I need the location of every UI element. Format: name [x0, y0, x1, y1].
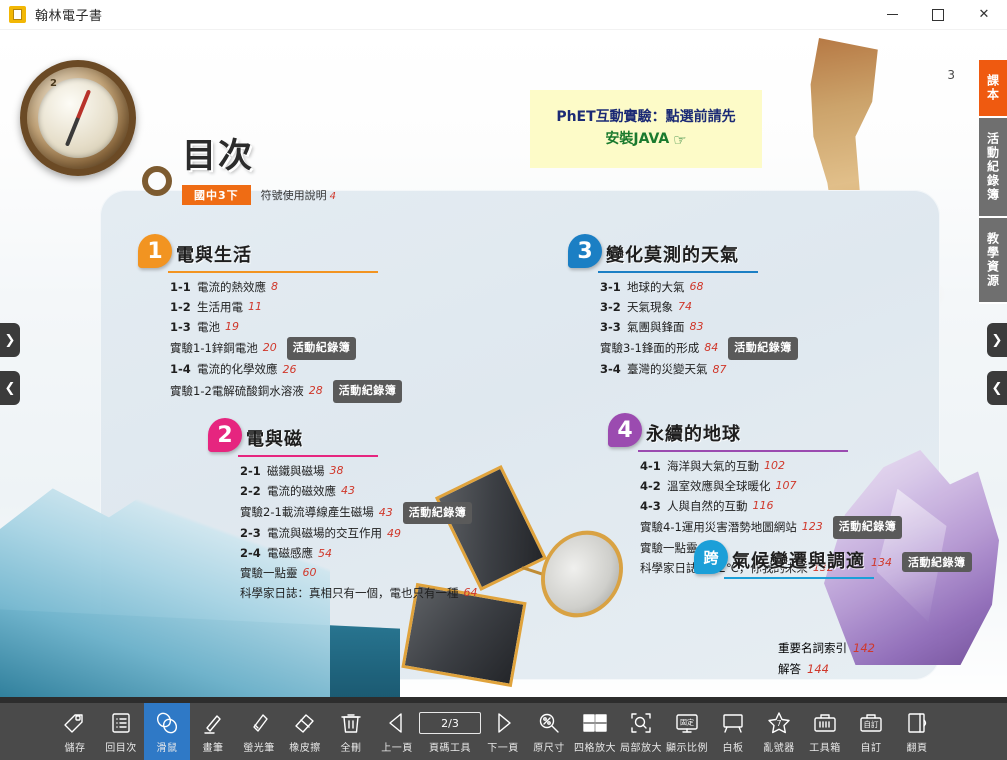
side-tab-教學資源[interactable]: 教學資源: [979, 218, 1007, 304]
toc-entry-page: 60: [303, 564, 317, 583]
sticky-note[interactable]: PhET互動實驗：點選前請先 安裝JAVA ☞: [530, 90, 762, 168]
chapter-title: 永續的地球: [646, 420, 741, 447]
activity-note-badge[interactable]: 活動紀錄簿: [403, 502, 473, 525]
toc-subheader: 國中3下 符號使用說明4: [182, 185, 336, 205]
toc-entry-number: 4-3: [640, 497, 662, 517]
cross-topic-note-badge[interactable]: 活動紀錄簿: [902, 552, 972, 572]
window-controls: ✕: [869, 0, 1007, 30]
ebook-app: 翰林電子書 ✕ 2 3: [0, 0, 1007, 760]
book-icon: [9, 6, 26, 23]
toolbar-button-whiteboard[interactable]: 白板: [710, 703, 756, 760]
chapter-entries: 3-1地球的大氣683-2天氣現象743-3氣團與鋒面83實驗3-1鋒面的形成8…: [600, 278, 798, 380]
toc-entry-number: 4-1: [640, 457, 662, 477]
toc-entry-text: 科學家日誌：真相只有一個，電也只有一種: [240, 584, 459, 604]
toc-entry-page: 83: [690, 318, 704, 337]
toolbar-button-next-page[interactable]: 下一頁: [480, 703, 526, 760]
toc-entry-page: 74: [678, 298, 692, 317]
toc-entry-page: 107: [776, 477, 797, 496]
toolbar-button-pen[interactable]: 畫筆: [190, 703, 236, 760]
side-tab-課本[interactable]: 課本: [979, 60, 1007, 118]
compass-photo: 2: [6, 48, 171, 208]
chapter-rule: [638, 450, 848, 452]
activity-note-badge[interactable]: 活動紀錄簿: [333, 380, 403, 403]
tail-entry-page: 142: [853, 638, 875, 659]
toc-entry[interactable]: 實驗3-1鋒面的形成84活動紀錄簿: [600, 337, 798, 360]
region-zoom-icon: [628, 708, 654, 738]
page-indicator[interactable]: 2/3: [419, 712, 481, 734]
legend-page: 4: [330, 191, 336, 202]
minimize-icon[interactable]: [869, 0, 915, 30]
toolbar-button-label: 頁碼工具: [429, 739, 471, 754]
pointing-hand-icon: ☞: [673, 130, 686, 150]
toc-entry-text: 地球的大氣: [627, 278, 685, 298]
toc-entry-number: 3-2: [600, 298, 622, 318]
chapter-title: 變化莫測的天氣: [606, 241, 739, 268]
sticky-note-line1: PhET互動實驗：點選前請先: [556, 108, 735, 127]
toc-entry-page: 19: [225, 318, 239, 337]
toolbar-button-trash[interactable]: 全刪: [328, 703, 374, 760]
toc-entry[interactable]: 2-2電流的磁效應43: [240, 482, 478, 502]
chapter-header-3[interactable]: 3變化莫測的天氣: [568, 234, 798, 268]
toc-entry-text: 實驗2-1載流導線產生磁場: [240, 503, 374, 523]
activity-note-badge[interactable]: 活動紀錄簿: [287, 337, 357, 360]
toc-entry-text: 實驗一點靈: [640, 539, 698, 559]
maximize-icon[interactable]: [915, 0, 961, 30]
toc-entry[interactable]: 4-3人與自然的互動116: [640, 497, 902, 517]
trash-icon: [338, 708, 364, 738]
side-tab-活動紀錄簿[interactable]: 活動紀錄簿: [979, 118, 1007, 218]
whiteboard-icon: [720, 708, 746, 738]
toolbar-button-custom[interactable]: 自訂自訂: [848, 703, 894, 760]
toc-entry-page: 54: [318, 545, 332, 564]
toolbar-button-random-number[interactable]: 7亂號器: [756, 703, 802, 760]
toolbar-button-label: 上一頁: [381, 739, 413, 754]
toc-entry-text: 電流的化學效應: [197, 360, 278, 380]
tail-entry-text: 解答: [778, 659, 801, 680]
toolbox-icon: [812, 708, 838, 738]
edge-prev-left-arrow[interactable]: ❮: [0, 371, 20, 405]
toc-entry[interactable]: 實驗2-1載流導線產生磁場43活動紀錄簿: [240, 502, 478, 525]
toc-entry[interactable]: 實驗一點靈60: [240, 564, 478, 584]
toolbar-button-label: 四格放大: [574, 739, 616, 754]
chapter-number-badge: 4: [608, 413, 642, 447]
toc-entry-text: 溫室效應與全球暖化: [667, 477, 771, 497]
sticky-note-line2: 安裝JAVA ☞: [605, 130, 686, 150]
toc-entry-text: 氣團與鋒面: [627, 318, 685, 338]
activity-note-badge[interactable]: 活動紀錄簿: [728, 337, 798, 360]
toc-entry-number: 2-2: [240, 482, 262, 502]
actual-size-icon: [536, 708, 562, 738]
svg-text:7: 7: [776, 719, 781, 728]
toolbar-button-label: 原尺寸: [533, 739, 565, 754]
toolbar-button-prev-page[interactable]: 上一頁: [374, 703, 420, 760]
quad-zoom-icon: [582, 708, 608, 738]
toc-entry-number: 1-4: [170, 360, 192, 380]
tail-entry[interactable]: 解答144: [778, 659, 875, 680]
page-number-icon: 2/3: [419, 708, 481, 738]
legend-link[interactable]: 符號使用說明4: [261, 187, 336, 203]
toc-entry[interactable]: 科學家日誌：真相只有一個，電也只有一種64: [240, 584, 478, 604]
chapter-number-badge: 2: [208, 418, 242, 452]
toolbar-button-label: 橡皮擦: [289, 739, 321, 754]
toc-header: 目次 國中3下 符號使用說明4: [182, 128, 336, 205]
toc-entry[interactable]: 1-3電池19: [170, 318, 402, 338]
toolbar-button-label: 儲存: [65, 739, 86, 754]
toc-entry-number: 1-3: [170, 318, 192, 338]
toc-entry-page: 102: [764, 457, 785, 476]
toc-entry-page: 28: [309, 382, 323, 401]
toolbar-button-region-zoom[interactable]: 局部放大: [618, 703, 664, 760]
toolbar-button-label: 翻頁: [907, 739, 928, 754]
custom-icon: 自訂: [858, 708, 884, 738]
toc-entry[interactable]: 4-2溫室效應與全球暖化107: [640, 477, 902, 497]
flip-page-icon: [904, 708, 930, 738]
toolbar-button-flip-page[interactable]: 翻頁: [894, 703, 940, 760]
toc-entry-page: 84: [704, 339, 718, 358]
save-icon: [62, 708, 88, 738]
toc-entry[interactable]: 1-4電流的化學效應26: [170, 360, 402, 380]
toc-entry-page: 43: [379, 504, 393, 523]
toc-entry-text: 臺灣的災變天氣: [627, 360, 708, 380]
toc-entry-number: 3-3: [600, 318, 622, 338]
contents-icon: [108, 708, 134, 738]
toc-entry-number: 2-3: [240, 524, 262, 544]
toc-entry-text: 磁鐵與磁場: [267, 462, 325, 482]
toc-entry[interactable]: 實驗4-1運用災害潛勢地圖網站123活動紀錄簿: [640, 516, 902, 539]
toc-entry-page: 49: [387, 525, 401, 544]
toc-entry[interactable]: 3-1地球的大氣68: [600, 278, 798, 298]
toolbar-button-label: 白板: [723, 739, 744, 754]
page-title: 目次: [182, 128, 336, 177]
toc-entry-text: 電流與磁場的交互作用: [267, 524, 382, 544]
chapter-section-2: 2電與磁2-1磁鐵與磁場382-2電流的磁效應43實驗2-1載流導線產生磁場43…: [208, 418, 478, 604]
chapter-rule: [598, 271, 758, 273]
chapter-header-1[interactable]: 1電與生活: [138, 234, 402, 268]
toc-entry[interactable]: 1-1電流的熱效應8: [170, 278, 402, 298]
toc-entry-page: 8: [271, 278, 278, 297]
toc-entry[interactable]: 實驗1-1鋅銅電池20活動紀錄簿: [170, 337, 402, 360]
chapter-title: 電與生活: [176, 241, 252, 268]
mouse-icon: [154, 708, 180, 738]
chapter-header-2[interactable]: 2電與磁: [208, 418, 478, 452]
chapter-header-4[interactable]: 4永續的地球: [608, 413, 902, 447]
toolbar-left-spacer: [0, 703, 52, 760]
chapter-number-badge: 1: [138, 234, 172, 268]
toolbar-button-actual-size[interactable]: 原尺寸: [526, 703, 572, 760]
toolbar-button-quad-zoom[interactable]: 四格放大: [572, 703, 618, 760]
toolbar-button-highlighter[interactable]: 螢光筆: [236, 703, 282, 760]
compass-marking: 2: [50, 78, 57, 89]
toc-entry-text: 電池: [197, 318, 220, 338]
legend-label: 符號使用說明: [261, 189, 327, 202]
toc-entry[interactable]: 2-4電磁感應54: [240, 544, 478, 564]
toolbar-button-save[interactable]: 儲存: [52, 703, 98, 760]
toc-entry[interactable]: 3-3氣團與鋒面83: [600, 318, 798, 338]
toc-entry-text: 實驗一點靈: [240, 564, 298, 584]
chapter-entries: 2-1磁鐵與磁場382-2電流的磁效應43實驗2-1載流導線產生磁場43活動紀錄…: [240, 462, 478, 604]
toolbar-button-label: 下一頁: [487, 739, 519, 754]
tail-entry-page: 144: [807, 659, 829, 680]
toc-entry-text: 生活用電: [197, 298, 243, 318]
toc-entry[interactable]: 3-2天氣現象74: [600, 298, 798, 318]
toc-entry[interactable]: 2-3電流與磁場的交互作用49: [240, 524, 478, 544]
tail-entries: 重要名詞索引142解答144: [778, 638, 875, 679]
toolbar-button-label: 回目次: [105, 739, 137, 754]
next-page-icon: [490, 708, 516, 738]
toolbar-button-label: 自訂: [861, 739, 882, 754]
toc-entry[interactable]: 3-4臺灣的災變天氣87: [600, 360, 798, 380]
toc-entry-page: 11: [248, 298, 262, 317]
chapter-title: 電與磁: [246, 425, 303, 452]
toolbar-button-display-ratio[interactable]: 固定顯示比例: [664, 703, 710, 760]
chapter-section-3: 3變化莫測的天氣3-1地球的大氣683-2天氣現象743-3氣團與鋒面83實驗3…: [568, 234, 798, 380]
chapter-section-1: 1電與生活1-1電流的熱效應81-2生活用電111-3電池19實驗1-1鋅銅電池…: [138, 234, 402, 403]
toc-entry-number: 2-1: [240, 462, 262, 482]
cross-topic-section[interactable]: 跨 氣候變遷與調適 134 活動紀錄簿: [694, 540, 972, 579]
toc-entry-text: 實驗3-1鋒面的形成: [600, 339, 699, 359]
close-icon[interactable]: ✕: [961, 0, 1007, 30]
toc-entry-text: 人與自然的互動: [667, 497, 748, 517]
cross-topic-page: 134: [871, 556, 892, 569]
toc-entry-page: 20: [263, 339, 277, 358]
toolbar-button-label: 滑鼠: [157, 739, 178, 754]
toolbar-button-label: 全刪: [341, 739, 362, 754]
toc-entry[interactable]: 2-1磁鐵與磁場38: [240, 462, 478, 482]
toolbar-button-label: 局部放大: [620, 739, 662, 754]
toolbar-button-eraser[interactable]: 橡皮擦: [282, 703, 328, 760]
toc-entry-page: 38: [330, 462, 344, 481]
chapter-entries: 1-1電流的熱效應81-2生活用電111-3電池19實驗1-1鋅銅電池20活動紀…: [170, 278, 402, 403]
toolbar-button-label: 顯示比例: [666, 739, 708, 754]
chapter-number-badge: 3: [568, 234, 602, 268]
toc-entry-text: 電磁感應: [267, 544, 313, 564]
toolbar-button-label: 亂號器: [763, 739, 795, 754]
tail-entry[interactable]: 重要名詞索引142: [778, 638, 875, 659]
prev-page-icon: [384, 708, 410, 738]
compass-loop: [142, 166, 172, 196]
pen-icon: [200, 708, 226, 738]
svg-text:自訂: 自訂: [864, 719, 879, 729]
edge-next-right-arrow[interactable]: ❯: [987, 323, 1007, 357]
toc-entry-text: 實驗1-2電解硫酸銅水溶液: [170, 382, 304, 402]
toc-entry[interactable]: 實驗1-2電解硫酸銅水溶液28活動紀錄簿: [170, 380, 402, 403]
grade-badge: 國中3下: [182, 185, 251, 205]
edge-next-left-arrow[interactable]: ❯: [0, 323, 20, 357]
toolbar-button-label: 畫筆: [203, 739, 224, 754]
toolbar-button-contents[interactable]: 回目次: [98, 703, 144, 760]
cross-topic-header: 跨 氣候變遷與調適 134 活動紀錄簿: [694, 540, 972, 574]
toc-entry-number: 3-1: [600, 278, 622, 298]
highlighter-icon: [246, 708, 272, 738]
toc-entry[interactable]: 1-2生活用電11: [170, 298, 402, 318]
chapter-rule: [168, 271, 378, 273]
tail-entry-text: 重要名詞索引: [778, 638, 847, 659]
toolbar-button-label: 螢光筆: [243, 739, 275, 754]
toc-entry-page: 68: [690, 278, 704, 297]
toc-entry-page: 123: [802, 518, 823, 537]
toolbar-button-label: 工具箱: [809, 739, 841, 754]
toc-entry-text: 電流的熱效應: [197, 278, 266, 298]
svg-text:固定: 固定: [680, 718, 694, 727]
toc-entry-page: 116: [753, 497, 774, 516]
sticky-note-text2: 安裝JAVA: [605, 130, 669, 149]
toc-entry-number: 4-2: [640, 477, 662, 497]
toc-entry[interactable]: 4-1海洋與大氣的互動102: [640, 457, 902, 477]
activity-note-badge[interactable]: 活動紀錄簿: [833, 516, 903, 539]
toolbar-button-page-number[interactable]: 2/3頁碼工具: [420, 703, 480, 760]
toc-entry-text: 實驗1-1鋅銅電池: [170, 339, 258, 359]
toc-entry-page: 26: [283, 361, 297, 380]
eraser-icon: [292, 708, 318, 738]
title-bar: 翰林電子書 ✕: [0, 0, 1007, 30]
page-number: 3: [947, 68, 955, 82]
toc-entry-text: 天氣現象: [627, 298, 673, 318]
toc-entry-text: 海洋與大氣的互動: [667, 457, 759, 477]
toc-entry-page: 87: [713, 361, 727, 380]
toc-entry-page: 64: [464, 584, 478, 603]
book-stage: 2 3 PhET互動實驗：點選前請先 安裝JAVA ☞ 目次 國中3下 符號使用…: [0, 30, 1007, 703]
cross-topic-name: 氣候變遷與調適: [732, 547, 865, 574]
toc-entry-number: 3-4: [600, 360, 622, 380]
toc-entry-page: 43: [341, 482, 355, 501]
bottom-toolbar: 儲存回目次滑鼠畫筆螢光筆橡皮擦全刪上一頁2/3頁碼工具下一頁原尺寸四格放大局部放…: [0, 703, 1007, 760]
cross-topic-badge: 跨: [694, 540, 728, 574]
edge-prev-right-arrow[interactable]: ❮: [987, 371, 1007, 405]
toc-entry-number: 1-2: [170, 298, 192, 318]
toolbar-button-mouse[interactable]: 滑鼠: [144, 703, 190, 760]
toc-entry-text: 電流的磁效應: [267, 482, 336, 502]
toolbar-button-toolbox[interactable]: 工具箱: [802, 703, 848, 760]
toc-entry-number: 1-1: [170, 278, 192, 298]
toc-entry-number: 2-4: [240, 544, 262, 564]
side-tab-group: 課本活動紀錄簿教學資源: [979, 60, 1007, 304]
app-title: 翰林電子書: [35, 5, 103, 24]
toc-entry-text: 實驗4-1運用災害潛勢地圖網站: [640, 518, 797, 538]
chapter-rule: [238, 455, 378, 457]
display-ratio-icon: 固定: [674, 708, 700, 738]
random-number-icon: 7: [766, 708, 792, 738]
